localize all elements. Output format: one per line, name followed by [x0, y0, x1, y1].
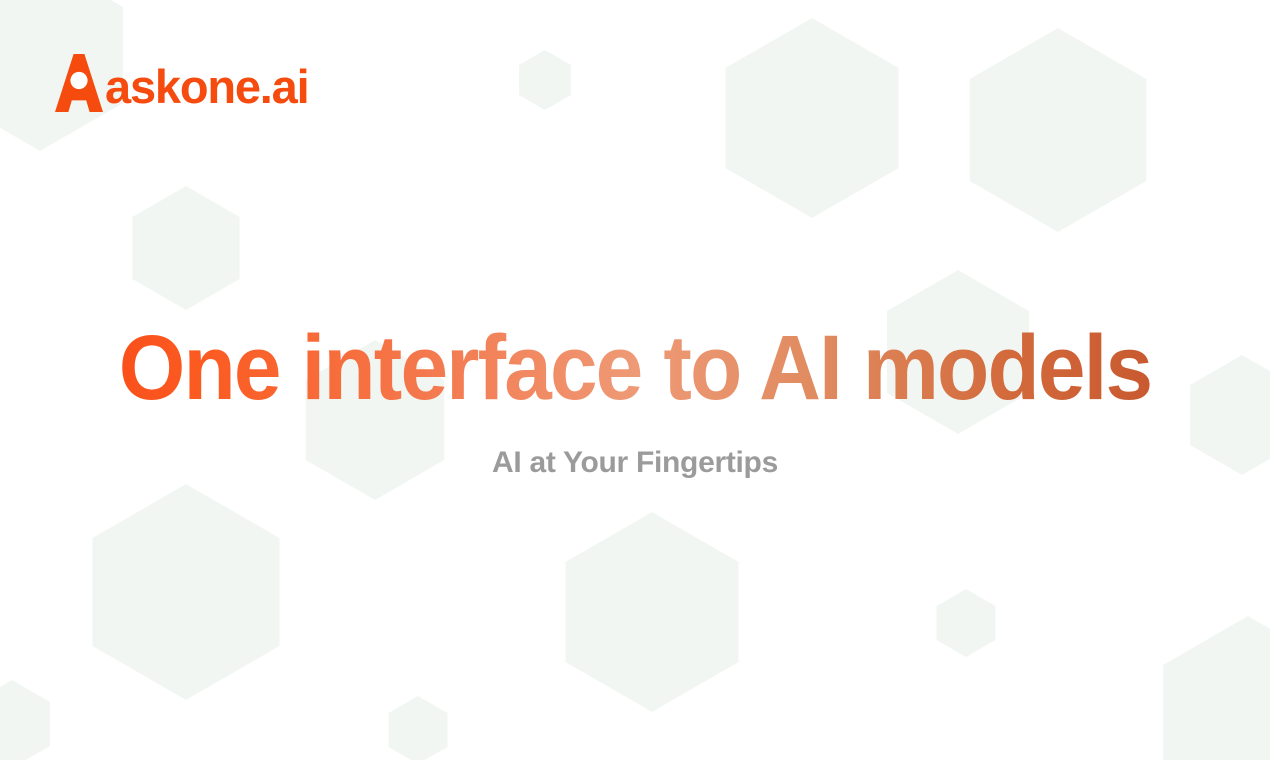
- askone-a-mark-icon: [55, 54, 103, 112]
- hero-banner: askone.ai One interface to AI models AI …: [0, 0, 1270, 760]
- hexagon-shape: [725, 18, 898, 218]
- hero-copy-block: One interface to AI models AI at Your Fi…: [0, 322, 1270, 478]
- hero-subtitle: AI at Your Fingertips: [0, 414, 1270, 478]
- hexagon-shape: [0, 680, 50, 760]
- hexagon-shape: [565, 512, 738, 712]
- hexagon-shape: [389, 696, 448, 760]
- hexagon-shape: [1163, 616, 1270, 760]
- hexagon-shape: [132, 186, 239, 310]
- brand-wordmark: askone.ai: [105, 63, 308, 110]
- hero-headline: One interface to AI models: [44, 322, 1225, 414]
- hexagon-shape: [970, 28, 1147, 232]
- brand-logo[interactable]: askone.ai: [55, 52, 308, 114]
- hexagon-shape: [92, 484, 279, 700]
- hexagon-shape: [519, 50, 571, 110]
- hexagon-shape: [937, 589, 996, 657]
